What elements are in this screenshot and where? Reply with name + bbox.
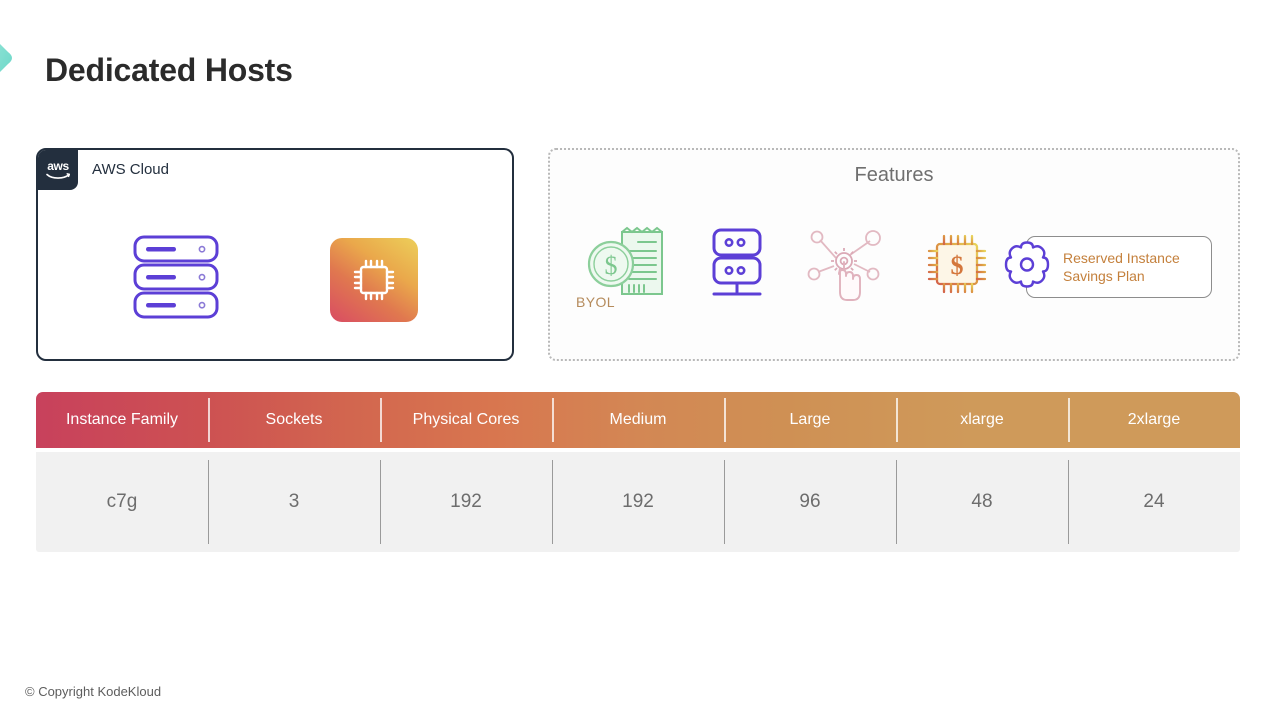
slide-root: Dedicated Hosts aws AWS Cloud	[0, 0, 1280, 720]
feature-dedicated-server	[706, 226, 770, 307]
aws-cloud-card: aws AWS Cloud	[36, 148, 514, 361]
ri-line-1: Reserved Instance	[1063, 249, 1180, 267]
table-header-physical-cores: Physical Cores	[380, 392, 552, 448]
page-title: Dedicated Hosts	[45, 52, 293, 89]
table-header-sockets: Sockets	[208, 392, 380, 448]
gear-icon	[1001, 238, 1053, 295]
aws-smile-icon	[46, 173, 70, 180]
cell-2xlarge: 24	[1068, 452, 1240, 552]
table-header-large: Large	[724, 392, 896, 448]
copyright-footer: © Copyright KodeKloud	[25, 684, 161, 699]
table-header-xlarge: xlarge	[896, 392, 1068, 448]
chevron-decoration-icon	[0, 6, 36, 110]
cell-large: 96	[724, 452, 896, 552]
aws-cloud-label: AWS Cloud	[92, 161, 169, 178]
svg-text:$: $	[951, 251, 964, 280]
table-header-medium: Medium	[552, 392, 724, 448]
reserved-instance-savings-plan-text: Reserved Instance Savings Plan	[1063, 249, 1180, 285]
aws-card-body	[38, 198, 512, 361]
feature-byol: $ BYOL	[576, 226, 672, 308]
reserved-instance-savings-plan-box[interactable]: Reserved Instance Savings Plan	[1026, 236, 1212, 298]
server-rack-icon	[132, 234, 220, 325]
byol-label: BYOL	[576, 294, 615, 310]
dedicated-server-icon	[706, 226, 770, 307]
cell-physical-cores: 192	[380, 452, 552, 552]
features-icon-row: $ BYOL	[550, 222, 1238, 311]
hand-click-network-icon	[804, 222, 888, 311]
cpu-dollar-icon: $	[922, 229, 992, 304]
instance-family-table: Instance Family Sockets Physical Cores M…	[36, 392, 1240, 552]
table-header-2xlarge: 2xlarge	[1068, 392, 1240, 448]
cell-xlarge: 48	[896, 452, 1068, 552]
table-header-row: Instance Family Sockets Physical Cores M…	[36, 392, 1240, 448]
ri-line-2: Savings Plan	[1063, 267, 1180, 285]
svg-text:$: $	[605, 251, 618, 280]
table-header-instance-family: Instance Family	[36, 392, 208, 448]
feature-hand-click-network	[804, 222, 888, 311]
feature-cpu-dollar: $	[922, 229, 992, 304]
cell-instance-family: c7g	[36, 452, 208, 552]
aws-logo-badge: aws	[38, 150, 78, 190]
features-title: Features	[550, 164, 1238, 187]
cell-sockets: 3	[208, 452, 380, 552]
table-row: c7g 3 192 192 96 48 24	[36, 452, 1240, 552]
features-panel: Features	[548, 148, 1240, 361]
cell-medium: 192	[552, 452, 724, 552]
aws-logo-text: aws	[47, 161, 68, 172]
ec2-chip-tile-icon	[330, 238, 418, 322]
